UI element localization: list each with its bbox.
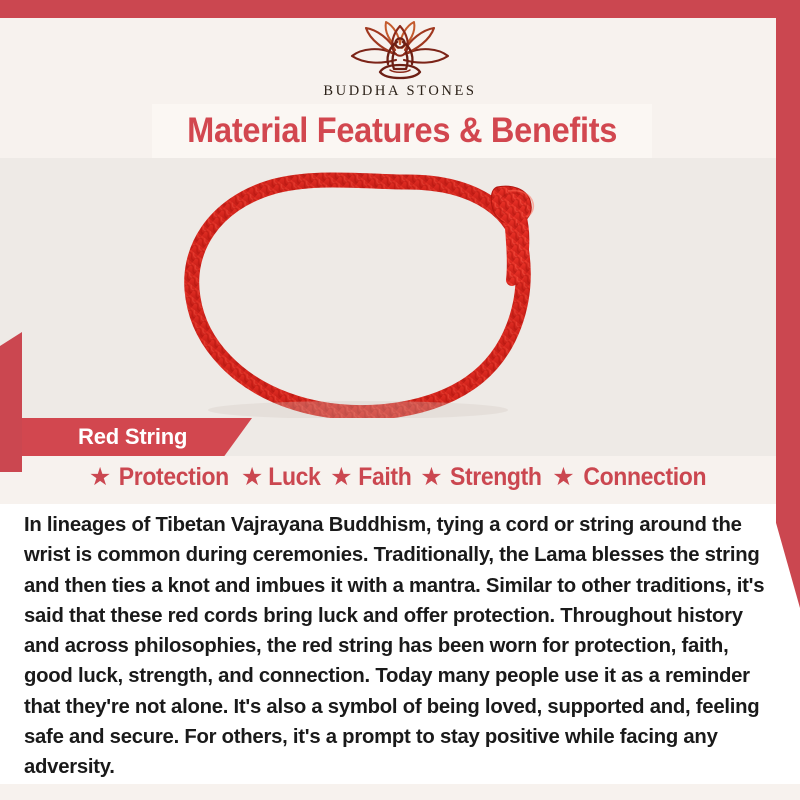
benefit-item: ★ Luck <box>241 463 323 492</box>
benefit-label: Faith <box>358 463 411 492</box>
brand-logo: BUDDHA STONES <box>305 20 495 100</box>
header: BUDDHA STONES <box>0 18 800 110</box>
top-accent-bar <box>0 0 800 18</box>
benefit-label: Protection <box>119 463 229 492</box>
infographic-poster: BUDDHA STONES Material Features & Benefi… <box>0 0 800 800</box>
star-icon: ★ <box>420 465 442 490</box>
page-title: Material Features & Benefits <box>187 111 617 151</box>
benefit-item: ★ Connection <box>552 463 711 492</box>
benefit-item: ★ Protection <box>89 463 234 492</box>
footer-strip <box>0 784 800 800</box>
bracelet-loop-shade <box>192 180 524 413</box>
star-icon: ★ <box>330 465 352 490</box>
left-accent-stripe <box>0 332 22 472</box>
star-icon: ★ <box>552 465 574 490</box>
bracelet-tail-right <box>519 214 524 278</box>
red-string-bracelet-illustration <box>0 158 800 420</box>
benefit-label: Luck <box>269 463 321 492</box>
benefit-item: ★ Faith <box>330 463 413 492</box>
product-label: Red String <box>22 424 187 450</box>
product-label-banner: Red String <box>22 418 252 456</box>
star-icon: ★ <box>89 465 111 490</box>
bracelet-tail-left <box>510 216 513 280</box>
benefit-label: Connection <box>583 463 706 492</box>
benefit-item: ★ Strength <box>420 463 545 492</box>
description-text: In lineages of Tibetan Vajrayana Buddhis… <box>24 510 779 783</box>
star-icon: ★ <box>241 465 263 490</box>
product-photo <box>0 158 800 420</box>
lotus-meditation-icon <box>344 20 456 82</box>
right-accent-stripe <box>776 0 800 608</box>
benefits-row: ★ Protection ★ Luck ★ Faith ★ Strength ★… <box>0 463 800 492</box>
benefit-label: Strength <box>450 463 542 492</box>
title-banner: Material Features & Benefits <box>152 104 652 158</box>
bracelet-shadow <box>208 401 508 419</box>
brand-name: BUDDHA STONES <box>305 83 495 100</box>
